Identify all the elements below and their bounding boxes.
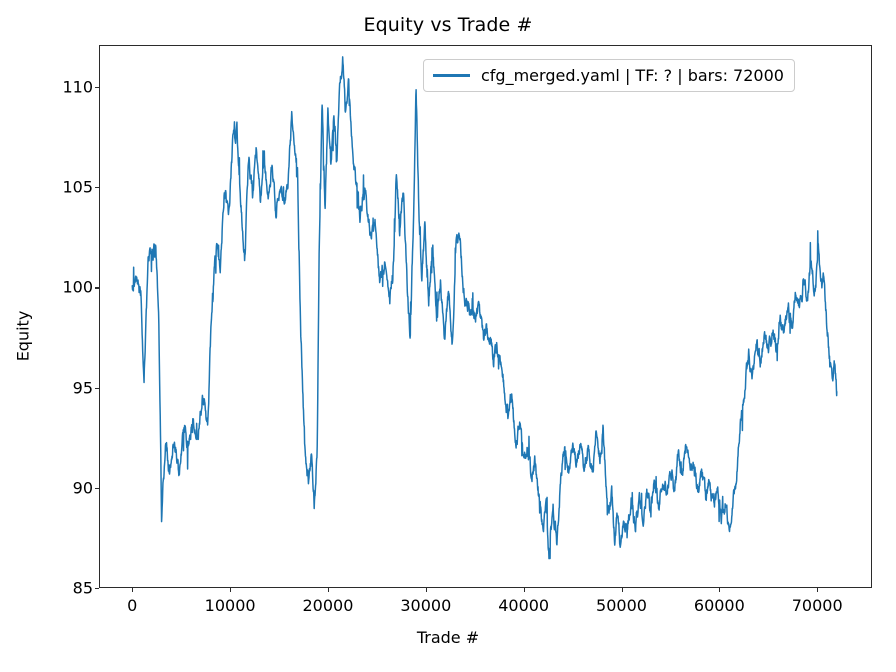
x-tick-mark <box>132 588 133 592</box>
x-tick-mark <box>622 588 623 592</box>
x-tick-mark <box>719 588 720 592</box>
y-tick-label: 90 <box>0 478 93 497</box>
legend-label: cfg_merged.yaml | TF: ? | bars: 72000 <box>481 66 784 85</box>
y-tick-label: 85 <box>0 579 93 598</box>
legend-line-swatch <box>433 74 470 77</box>
x-tick-label: 60000 <box>694 596 745 615</box>
x-tick-mark <box>230 588 231 592</box>
y-axis-label: Equity <box>14 296 33 376</box>
x-tick-label: 10000 <box>205 596 256 615</box>
x-tick-label: 20000 <box>303 596 354 615</box>
x-tick-label: 30000 <box>400 596 451 615</box>
x-tick-mark <box>426 588 427 592</box>
y-tick-label: 110 <box>0 78 93 97</box>
equity-curve <box>99 45 872 588</box>
x-tick-label: 40000 <box>498 596 549 615</box>
y-tick-mark <box>95 588 99 589</box>
y-tick-label: 95 <box>0 378 93 397</box>
legend[interactable]: cfg_merged.yaml | TF: ? | bars: 72000 <box>423 59 795 92</box>
x-tick-mark <box>524 588 525 592</box>
x-tick-mark <box>817 588 818 592</box>
x-axis-label: Trade # <box>0 628 896 647</box>
y-tick-label: 100 <box>0 278 93 297</box>
equity-line-path <box>132 57 837 559</box>
x-tick-label: 70000 <box>792 596 843 615</box>
x-tick-label: 50000 <box>596 596 647 615</box>
y-tick-label: 105 <box>0 178 93 197</box>
plot-area <box>99 45 872 588</box>
x-tick-mark <box>328 588 329 592</box>
x-tick-label: 0 <box>127 596 137 615</box>
chart-title: Equity vs Trade # <box>0 14 896 36</box>
chart-figure: Equity vs Trade # Equity Trade # 8590951… <box>0 0 896 672</box>
